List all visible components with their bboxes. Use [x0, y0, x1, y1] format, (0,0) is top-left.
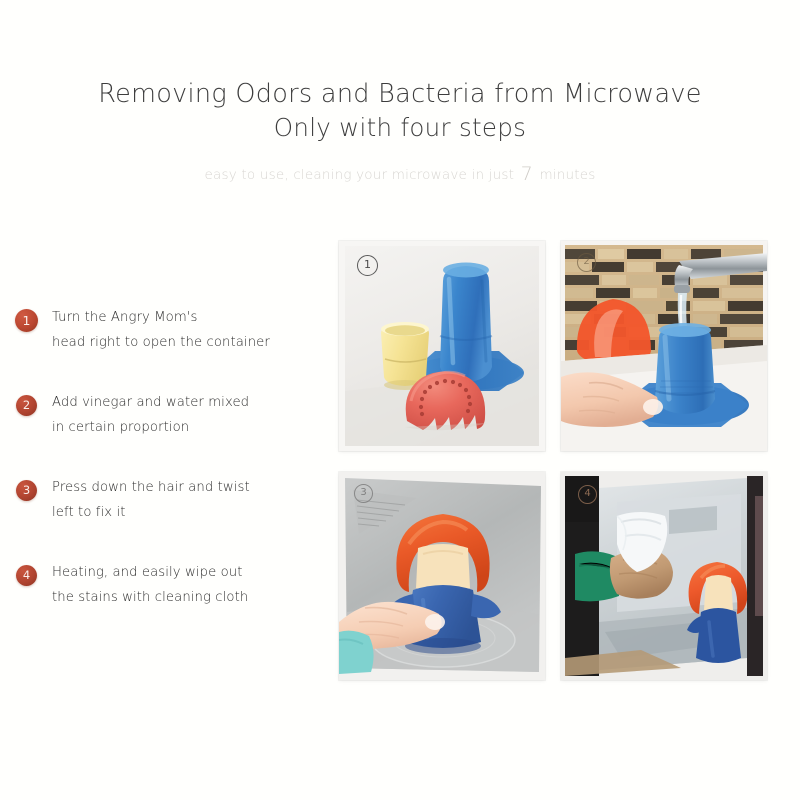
- photo-panel-2-image: [561, 241, 767, 451]
- step-item-4: 4 Heating, and easily wipe out the stain…: [14, 555, 314, 640]
- photo-panel-4-image: [561, 472, 767, 680]
- step-text-3: Press down the hair and twist left to fi…: [52, 475, 250, 525]
- step-text-2: Add vinegar and water mixed in certain p…: [52, 390, 249, 440]
- page-title-line-2: Only with four steps: [0, 111, 800, 144]
- step-text-4-line-1: Heating, and easily wipe out: [52, 560, 248, 585]
- photo-panel-1-image: [339, 241, 545, 451]
- step-badge-1: 1: [15, 309, 38, 332]
- photo-panel-4: 4: [561, 472, 767, 680]
- step-item-2: 2 Add vinegar and water mixed in certain…: [14, 385, 314, 470]
- step-text-3-line-1: Press down the hair and twist: [52, 475, 250, 500]
- step-badge-2: 2: [16, 395, 37, 416]
- subtitle-minutes-number: 7: [519, 163, 535, 185]
- instruction-photo-grid: 1: [339, 241, 773, 685]
- step-text-2-line-2: in certain proportion: [52, 415, 249, 440]
- subtitle-text-before: easy to use, cleaning your microwave in …: [205, 167, 515, 183]
- subtitle-text-after: minutes: [539, 167, 595, 183]
- step-text-4: Heating, and easily wipe out the stains …: [52, 560, 248, 610]
- step-item-3: 3 Press down the hair and twist left to …: [14, 470, 314, 555]
- photo-panel-3: 3: [339, 472, 545, 680]
- step-text-3-line-2: left to fix it: [52, 500, 250, 525]
- step-text-1-line-2: head right to open the container: [52, 330, 270, 355]
- step-badge-3: 3: [16, 480, 37, 501]
- steps-list: 1 Turn the Angry Mom's head right to ope…: [14, 300, 314, 640]
- step-text-1-line-1: Turn the Angry Mom's: [52, 305, 270, 330]
- page-title-line-1: Removing Odors and Bacteria from Microwa…: [0, 78, 800, 111]
- step-text-4-line-2: the stains with cleaning cloth: [52, 585, 248, 610]
- photo-panel-1: 1: [339, 241, 545, 451]
- photo-panel-3-image: [339, 472, 545, 680]
- step-item-1: 1 Turn the Angry Mom's head right to ope…: [14, 300, 314, 385]
- step-text-2-line-1: Add vinegar and water mixed: [52, 390, 249, 415]
- page-subtitle: easy to use, cleaning your microwave in …: [0, 163, 800, 185]
- step-text-1: Turn the Angry Mom's head right to open …: [52, 305, 270, 355]
- step-badge-4: 4: [16, 565, 37, 586]
- photo-panel-2: 2: [561, 241, 767, 451]
- page-header: Removing Odors and Bacteria from Microwa…: [0, 78, 800, 144]
